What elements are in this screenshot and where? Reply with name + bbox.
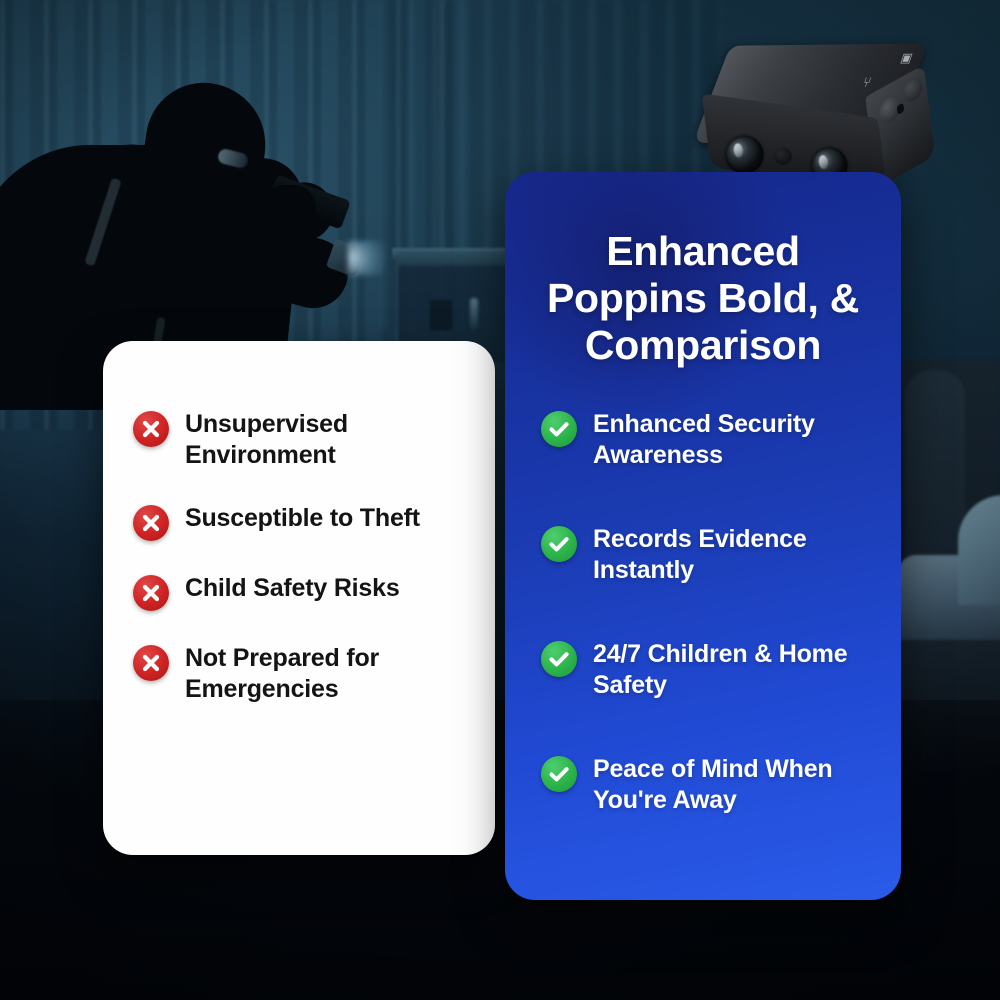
- title-line: Comparison: [531, 322, 875, 369]
- check-circle-icon: [541, 756, 577, 792]
- list-item: Susceptible to Theft: [133, 503, 468, 541]
- list-item-label: Enhanced Security Awareness: [593, 409, 871, 471]
- list-item-label: Child Safety Risks: [185, 573, 400, 604]
- check-circle-icon: [541, 641, 577, 677]
- x-circle-icon: [133, 645, 169, 681]
- problem-card: Unsupervised Environment Susceptible to …: [103, 341, 495, 855]
- title-line: Enhanced: [531, 228, 875, 275]
- promo-graphic: ⑂ ▣ Unsupervised Environment Sus: [0, 0, 1000, 1000]
- title-line: Poppins Bold, &: [531, 275, 875, 322]
- list-item-label: 24/7 Children & Home Safety: [593, 639, 871, 701]
- x-circle-icon: [133, 411, 169, 447]
- benefit-list: Enhanced Security Awareness Records Evid…: [541, 409, 871, 816]
- x-circle-icon: [133, 575, 169, 611]
- x-circle-icon: [133, 505, 169, 541]
- list-item-label: Records Evidence Instantly: [593, 524, 871, 586]
- list-item: Peace of Mind When You're Away: [541, 754, 871, 816]
- list-item-label: Susceptible to Theft: [185, 503, 420, 534]
- problem-list: Unsupervised Environment Susceptible to …: [133, 409, 468, 737]
- list-item: Records Evidence Instantly: [541, 524, 871, 586]
- benefit-card: Enhanced Poppins Bold, & Comparison Enha…: [505, 172, 901, 900]
- list-item: Child Safety Risks: [133, 573, 468, 611]
- list-item: Enhanced Security Awareness: [541, 409, 871, 471]
- list-item: Unsupervised Environment: [133, 409, 468, 471]
- page-title: Enhanced Poppins Bold, & Comparison: [531, 228, 875, 369]
- list-item-label: Peace of Mind When You're Away: [593, 754, 871, 816]
- list-item: 24/7 Children & Home Safety: [541, 639, 871, 701]
- check-circle-icon: [541, 526, 577, 562]
- list-item-label: Unsupervised Environment: [185, 409, 468, 471]
- list-item-label: Not Prepared for Emergencies: [185, 643, 468, 705]
- list-item: Not Prepared for Emergencies: [133, 643, 468, 705]
- check-circle-icon: [541, 411, 577, 447]
